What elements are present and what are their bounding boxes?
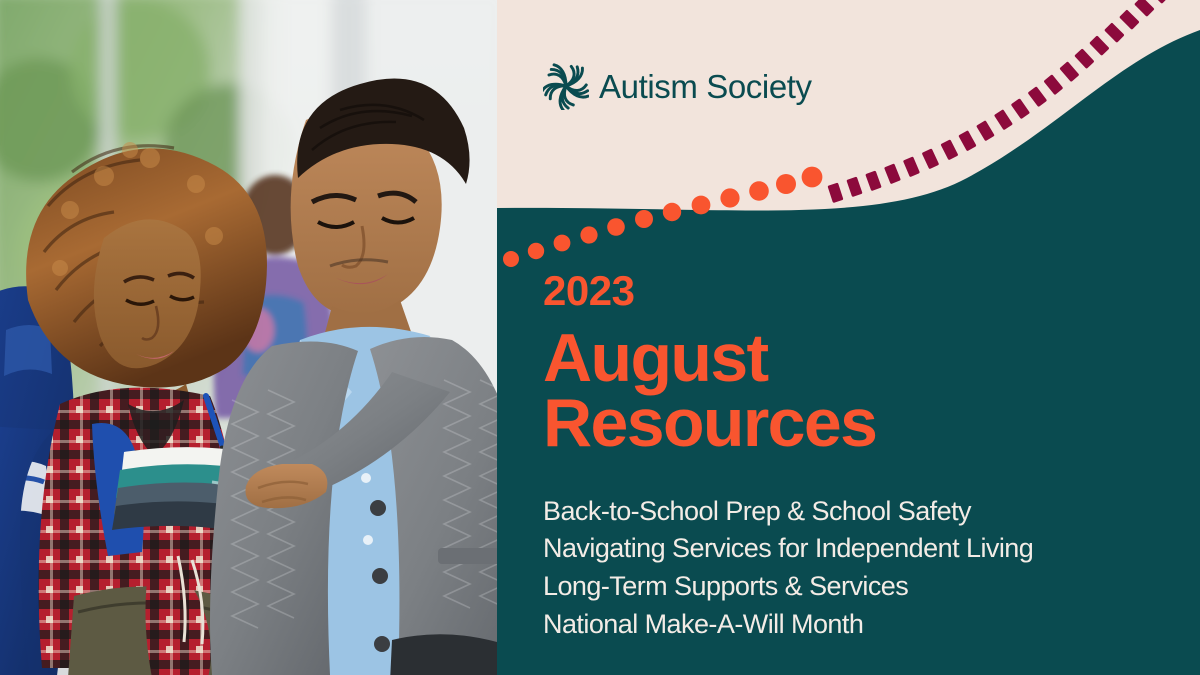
brand-name: Autism Society <box>599 70 812 103</box>
list-item: Back-to-School Prep & School Safety <box>543 493 1183 531</box>
content-panel: Autism Society 2023 August Resources Bac… <box>497 0 1200 675</box>
autism-society-logo[interactable]: Autism Society <box>543 62 812 110</box>
august-resources-graphic: Autism Society 2023 August Resources Bac… <box>0 0 1200 675</box>
headline-line-1: August <box>543 326 1183 391</box>
photo-illustration <box>0 0 497 675</box>
list-item: Long-Term Supports & Services <box>543 568 1183 606</box>
headline-line-2: Resources <box>543 391 1183 456</box>
page-title: August Resources <box>543 326 1183 457</box>
resource-topic-list: Back-to-School Prep & School Safety Navi… <box>543 493 1183 644</box>
hero-text-block: 2023 August Resources Back-to-School Pre… <box>543 270 1183 644</box>
list-item: National Make-A-Will Month <box>543 606 1183 644</box>
list-item: Navigating Services for Independent Livi… <box>543 530 1183 568</box>
hero-photo <box>0 0 497 675</box>
autism-society-pinwheel-icon <box>543 62 589 110</box>
year-label: 2023 <box>543 270 1183 312</box>
